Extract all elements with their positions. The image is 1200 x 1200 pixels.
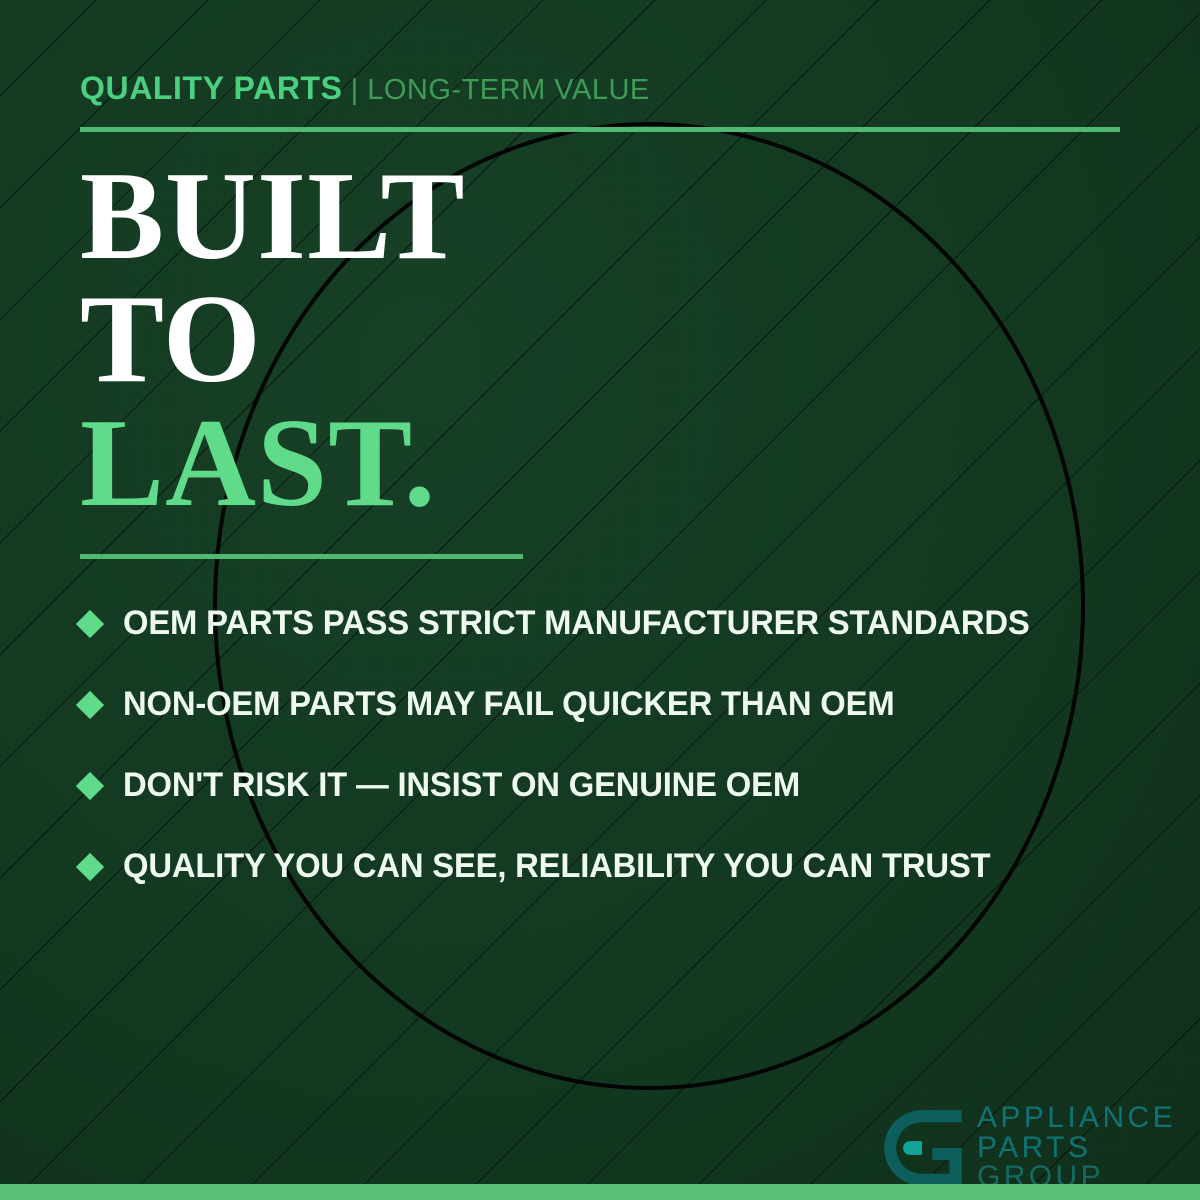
brand-logo-wordmark: APPLIANCE PARTS GROUP [977, 1103, 1176, 1192]
top-divider-rule [80, 127, 1120, 132]
benefits-list: OEM PARTS PASS STRICT MANUFACTURER STAND… [80, 583, 1150, 907]
kicker: QUALITY PARTS| LONG-TERM VALUE [80, 72, 650, 105]
brand-word-parts: PARTS [977, 1133, 1176, 1163]
headline-line-3: LAST. [80, 402, 466, 525]
headline: BUILT TO LAST. [80, 155, 466, 525]
apg-g-monogram-icon [879, 1105, 965, 1191]
bottom-accent-bar [0, 1184, 1200, 1200]
diamond-bullet-icon [76, 609, 104, 637]
list-item: DON'T RISK IT — INSIST ON GENUINE OEM [80, 745, 1150, 826]
list-item: OEM PARTS PASS STRICT MANUFACTURER STAND… [80, 583, 1150, 664]
list-item-label: DON'T RISK IT — INSIST ON GENUINE OEM [123, 766, 800, 805]
brand-word-appliance: APPLIANCE [977, 1103, 1176, 1133]
diamond-bullet-icon [76, 852, 104, 880]
kicker-main-label: QUALITY PARTS [80, 70, 343, 106]
list-item-label: QUALITY YOU CAN SEE, RELIABILITY YOU CAN… [123, 847, 990, 886]
headline-line-2: TO [80, 278, 466, 401]
list-item-label: OEM PARTS PASS STRICT MANUFACTURER STAND… [123, 604, 1030, 643]
kicker-sub-label: | LONG-TERM VALUE [351, 74, 650, 106]
diamond-bullet-icon [76, 771, 104, 799]
diamond-bullet-icon [76, 690, 104, 718]
poster-canvas: QUALITY PARTS| LONG-TERM VALUE BUILT TO … [0, 0, 1200, 1200]
brand-logo: APPLIANCE PARTS GROUP [879, 1103, 1176, 1192]
headline-divider-rule [80, 554, 523, 559]
headline-line-1: BUILT [80, 155, 466, 278]
list-item: QUALITY YOU CAN SEE, RELIABILITY YOU CAN… [80, 826, 1150, 907]
list-item-label: NON-OEM PARTS MAY FAIL QUICKER THAN OEM [123, 685, 894, 724]
list-item: NON-OEM PARTS MAY FAIL QUICKER THAN OEM [80, 664, 1150, 745]
